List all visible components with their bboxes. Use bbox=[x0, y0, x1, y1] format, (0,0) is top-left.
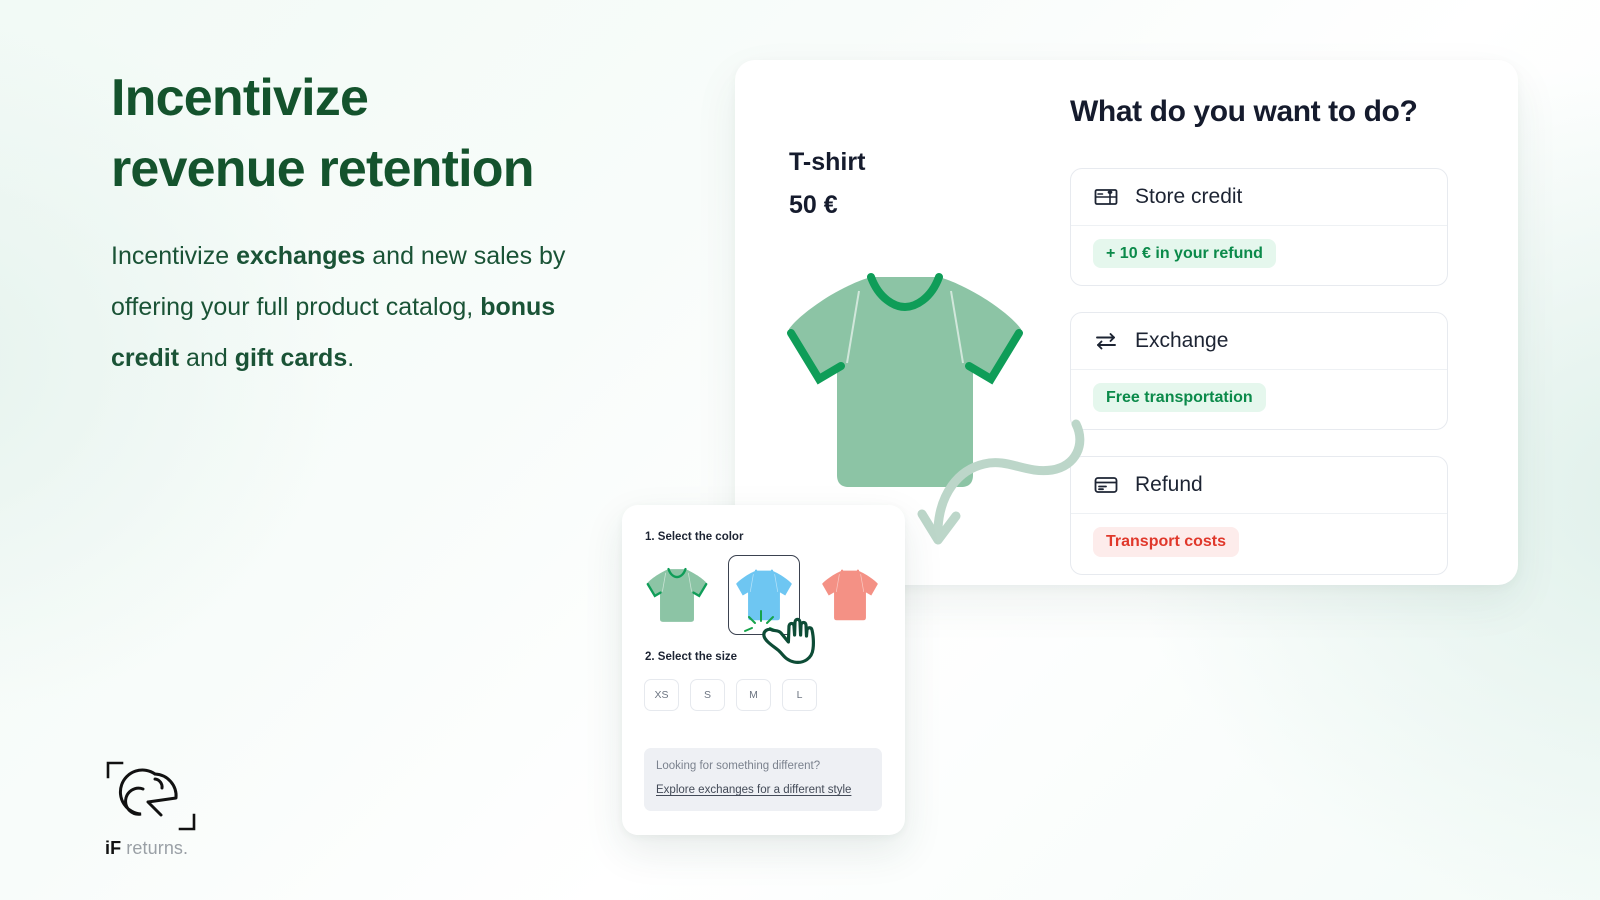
step-label-size: 2. Select the size bbox=[645, 651, 737, 663]
option-store-credit[interactable]: Store credit + 10 € in your refund bbox=[1070, 168, 1448, 286]
desc-text-1: Incentivize bbox=[111, 242, 236, 270]
option-refund-label: Refund bbox=[1135, 473, 1203, 497]
status-badge-refund: Transport costs bbox=[1093, 527, 1239, 556]
desc-bold-gift-cards: gift cards bbox=[235, 344, 348, 372]
option-exchange-header[interactable]: Exchange bbox=[1071, 313, 1447, 370]
poster-canvas: Incentivize revenue retention Incentiviz… bbox=[0, 0, 1600, 900]
connector-arrow-icon bbox=[880, 418, 1100, 578]
explore-exchanges-link[interactable]: Explore exchanges for a different style bbox=[656, 784, 851, 796]
status-badge-exchange: Free transportation bbox=[1093, 383, 1266, 412]
size-option-list: XS S M L bbox=[644, 679, 817, 711]
color-swatch-blue[interactable] bbox=[728, 555, 800, 635]
brand-returns: returns. bbox=[121, 838, 188, 858]
return-options-list: Store credit + 10 € in your refund Excha… bbox=[1070, 168, 1448, 575]
option-exchange-body: Free transportation bbox=[1071, 370, 1447, 429]
option-store-credit-label: Store credit bbox=[1135, 185, 1242, 209]
option-refund-body: Transport costs bbox=[1071, 514, 1447, 573]
size-button-s[interactable]: S bbox=[690, 679, 725, 711]
tshirt-green-icon bbox=[644, 564, 710, 626]
brand-wordmark: iF returns. bbox=[105, 838, 215, 859]
headline-line-2: revenue retention bbox=[111, 134, 731, 205]
option-store-credit-body: + 10 € in your refund bbox=[1071, 226, 1447, 285]
hero-description: Incentivize exchanges and new sales by o… bbox=[111, 231, 591, 384]
option-refund[interactable]: Refund Transport costs bbox=[1070, 456, 1448, 574]
page-title: Incentivize revenue retention bbox=[111, 63, 731, 204]
alternative-styles-box: Looking for something different? Explore… bbox=[644, 748, 882, 811]
size-button-m[interactable]: M bbox=[736, 679, 771, 711]
product-price: 50 € bbox=[789, 191, 838, 220]
brand-if: iF bbox=[105, 838, 121, 858]
headline-line-1: Incentivize bbox=[111, 63, 731, 134]
color-swatch-coral[interactable] bbox=[814, 555, 886, 635]
step-label-color: 1. Select the color bbox=[645, 531, 743, 543]
alternative-styles-question: Looking for something different? bbox=[656, 760, 870, 772]
option-exchange[interactable]: Exchange Free transportation bbox=[1070, 312, 1448, 430]
desc-text-3: and bbox=[179, 344, 235, 372]
product-name: T-shirt bbox=[789, 148, 865, 177]
desc-bold-exchanges: exchanges bbox=[236, 242, 365, 270]
brand-logo: iF returns. bbox=[105, 760, 215, 859]
panel-heading: What do you want to do? bbox=[1070, 95, 1490, 129]
option-refund-header[interactable]: Refund bbox=[1071, 457, 1447, 514]
exchange-arrows-icon bbox=[1093, 328, 1119, 354]
tshirt-coral-icon bbox=[819, 566, 881, 624]
desc-text-4: . bbox=[347, 344, 354, 372]
sparkle-icon bbox=[740, 605, 782, 639]
gift-card-icon bbox=[1093, 184, 1119, 210]
size-button-l[interactable]: L bbox=[782, 679, 817, 711]
size-button-xs[interactable]: XS bbox=[644, 679, 679, 711]
color-swatch-list bbox=[641, 552, 886, 638]
option-exchange-label: Exchange bbox=[1135, 329, 1228, 353]
status-badge-store-credit: + 10 € in your refund bbox=[1093, 239, 1276, 268]
chameleon-icon bbox=[105, 760, 197, 832]
color-swatch-green[interactable] bbox=[641, 555, 713, 635]
option-store-credit-header[interactable]: Store credit bbox=[1071, 169, 1447, 226]
